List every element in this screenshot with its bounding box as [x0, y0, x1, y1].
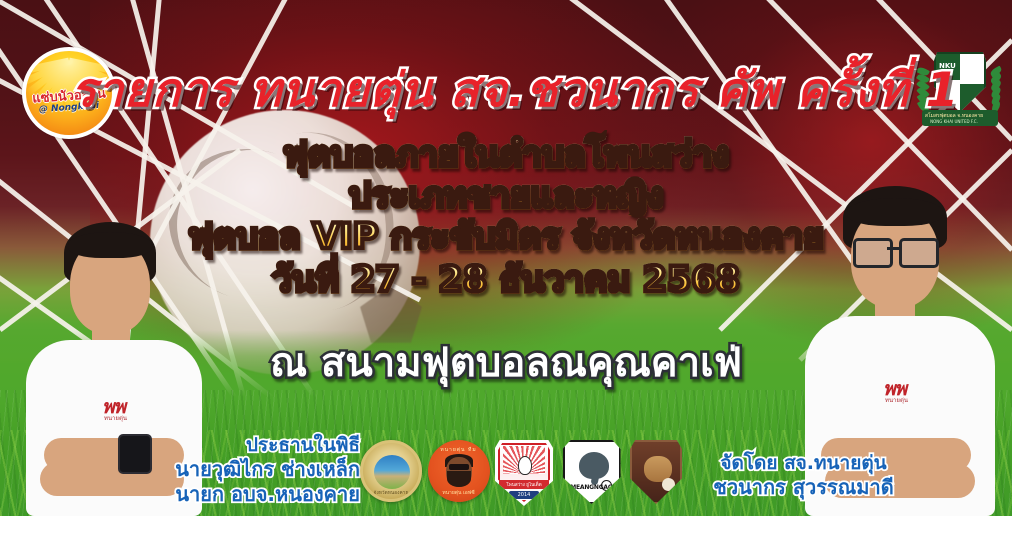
poster-headline: รายการ ทนายตุ่น สจ.ชวนากร คัพ ครั้งที่ 1 [120, 56, 910, 122]
laurel-right-icon [984, 66, 1004, 112]
seal-emblem [374, 455, 410, 489]
eyeglasses-icon [853, 238, 893, 268]
shirt-logo-sub: ทนายตุ่น [104, 413, 127, 423]
hair-fringe [68, 232, 152, 258]
shield-band-label: โพนสว่าง ยูไนเต็ด [495, 481, 553, 488]
poster-line-3: ฟุตบอล VIP กระชับมิตร จังหวัดหนองคาย [188, 218, 824, 257]
shield-mascot [518, 456, 532, 475]
sponsor-logo-row: จังหวัดหนองคาย ทนายตุ่น ทีม ทนายตุ่น เอฟ… [360, 437, 690, 509]
shield-year-label: 2014 [495, 492, 553, 498]
poster-line-2: ประเภทชายและหญิง [349, 177, 664, 216]
credit-left-name: นายวุฒิไกร ช่างเหล็ก [120, 457, 360, 481]
hair-fringe [847, 198, 943, 226]
sponsor-logo-brown-shield [630, 440, 690, 506]
meangngao-shield-icon: MEANGNGAO [563, 440, 621, 504]
credit-left: ประธานในพิธี นายวุฒิไกร ช่างเหล็ก นายก อ… [120, 434, 360, 506]
provincial-seal-icon: จังหวัดหนองคาย [360, 440, 422, 502]
credit-right-role: จัดโดย สจ.ทนายตุ่น [681, 452, 926, 475]
portrait-badge-bottom-label: ทนายตุ่น เอฟซี [428, 489, 490, 497]
portrait-badge-icon: ทนายตุ่น ทีม ทนายตุ่น เอฟซี [428, 440, 490, 502]
sponsor-logo-meangngao: MEANGNGAO [563, 440, 623, 506]
crest-quadrant [960, 84, 984, 110]
crest-quadrant [960, 54, 984, 80]
sponsor-logo-provincial-seal: จังหวัดหนองคาย [360, 440, 420, 506]
portrait-beard [447, 471, 471, 487]
seal-label: จังหวัดหนองคาย [363, 489, 419, 496]
credit-right-name: ชวนากร สุวรรณมาดี [681, 475, 926, 499]
sponsor-logo-red-white-shield: โพนสว่าง ยูไนเต็ด 2014 [495, 440, 555, 506]
poster-line-1: ฟุตบอลภายในตำบลโพนสว่าง [283, 136, 729, 175]
brown-shield-icon [630, 440, 682, 504]
credit-right: จัดโดย สจ.ทนายตุ่น ชวนากร สุวรรณมาดี [681, 452, 926, 500]
eyeglasses-bridge [887, 247, 899, 250]
credit-left-role: ประธานในพิธี [120, 434, 360, 457]
tournament-poster: แซ่บนัวอีสาน @ Nongkhai NKU สโมสรฟุตบอล … [0, 0, 1012, 538]
poster-line-4: วันที่ 27 - 28 ธันวาคม 2568 [272, 261, 740, 300]
credit-left-position: นายก อบจ.หนองคาย [120, 482, 360, 506]
portrait-sunglasses-icon [449, 464, 469, 470]
meangngao-label: MEANGNGAO [565, 484, 619, 491]
shirt-logo-sub: ทนายตุ่น [885, 395, 908, 405]
red-white-shield-icon: โพนสว่าง ยูไนเต็ด 2014 [495, 440, 553, 506]
poster-bottom-frame [0, 516, 1012, 538]
eyeglasses-icon [899, 238, 939, 268]
sponsor-logo-portrait-badge: ทนายตุ่น ทีม ทนายตุ่น เอฟซี [428, 440, 488, 506]
brown-shield-ball [662, 478, 675, 491]
portrait-badge-top-label: ทนายตุ่น ทีม [428, 446, 490, 454]
